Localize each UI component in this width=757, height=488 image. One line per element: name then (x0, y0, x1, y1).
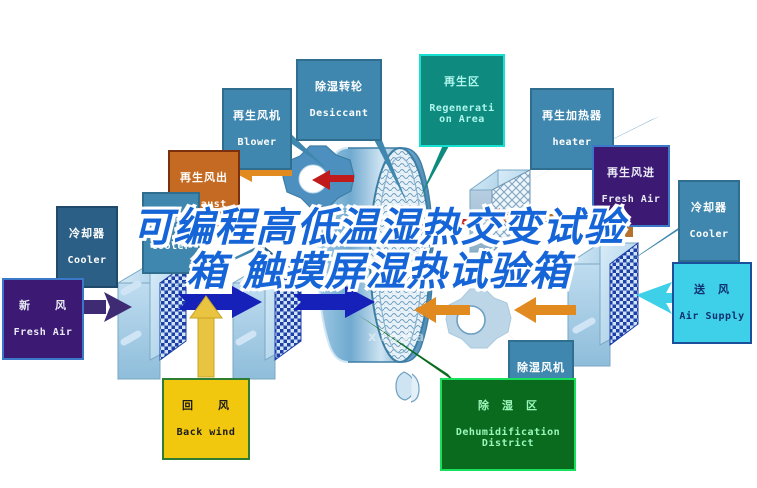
diagram-canvas: xinda 除湿转轮 Desiccant 再生风机 Blower 再生区 Reg… (0, 0, 757, 488)
label-regeneration-heater-cn: 再生加热器 (534, 110, 610, 122)
watermark: xinda (368, 330, 428, 345)
label-fresh-air-in-cn: 新 风 (6, 300, 80, 312)
label-regeneration-blower-cn: 再生风机 (226, 110, 288, 122)
label-air-supply-en: Air Supply (676, 312, 748, 323)
label-regen-fresh-air-cn: 再生风进 (596, 167, 666, 179)
label-regeneration-blower-en: Blower (226, 138, 288, 149)
label-desiccant-wheel-en: Desiccant (300, 109, 378, 120)
arrow-dehum-2 (514, 297, 576, 323)
label-back-wind-cn: 回 风 (166, 400, 246, 412)
label-regeneration-area-en: Regenerati on Area (423, 104, 501, 125)
label-desiccant-wheel: 除湿转轮 Desiccant (296, 59, 382, 141)
label-fresh-air-in-en: Fresh Air (6, 328, 80, 339)
label-dehum-blower-cn: 除湿风机 (512, 362, 570, 374)
page-title: 可编程高低温湿热交变试验 箱 触摸屏湿热试验箱 (0, 206, 757, 294)
page-title-line1: 可编程高低温湿热交变试验 (0, 206, 757, 250)
label-regeneration-area: 再生区 Regenerati on Area (419, 54, 505, 147)
label-regeneration-area-cn: 再生区 (423, 76, 501, 88)
label-dehumidification-district: 除 湿 区 Dehumidification District (440, 378, 576, 471)
label-exhaust-cn: 再生风出 (172, 172, 236, 184)
label-back-wind: 回 风 Back wind (162, 378, 250, 460)
dehumidification-blower-shape (446, 289, 511, 348)
label-back-wind-en: Back wind (166, 428, 246, 439)
label-dehum-district-cn: 除 湿 区 (444, 400, 572, 412)
label-dehum-district-en: Dehumidification District (444, 428, 572, 449)
label-desiccant-wheel-cn: 除湿转轮 (300, 81, 378, 93)
page-title-line2: 箱 触摸屏湿热试验箱 (0, 250, 757, 294)
